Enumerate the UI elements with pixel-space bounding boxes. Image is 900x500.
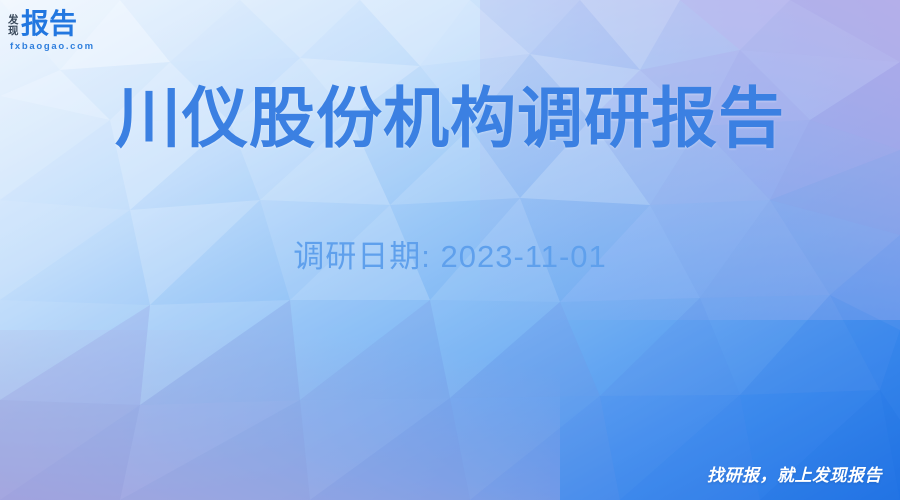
survey-date-label: 调研日期: 2023-11-01 [0, 231, 900, 276]
logo-mark-char-2: 现 [8, 26, 18, 37]
logo-wordmark: 报告 [21, 10, 77, 38]
logo-mark-char-1: 发 [8, 15, 18, 26]
brand-tagline: 找研报，就上发现报告 [707, 461, 882, 486]
logo-mark-stack: 发 现 [8, 15, 18, 38]
page-title: 川仪股份机构调研报告 [0, 82, 900, 155]
report-cover-page: 发 现 报告 fxbaogao.com 川仪股份机构调研报告 调研日期: 202… [0, 0, 900, 500]
logo-domain-text: fxbaogao.com [10, 41, 126, 52]
brand-logo[interactable]: 发 现 报告 fxbaogao.com [8, 6, 126, 54]
logo-wordmark-row: 发 现 报告 [8, 6, 126, 38]
